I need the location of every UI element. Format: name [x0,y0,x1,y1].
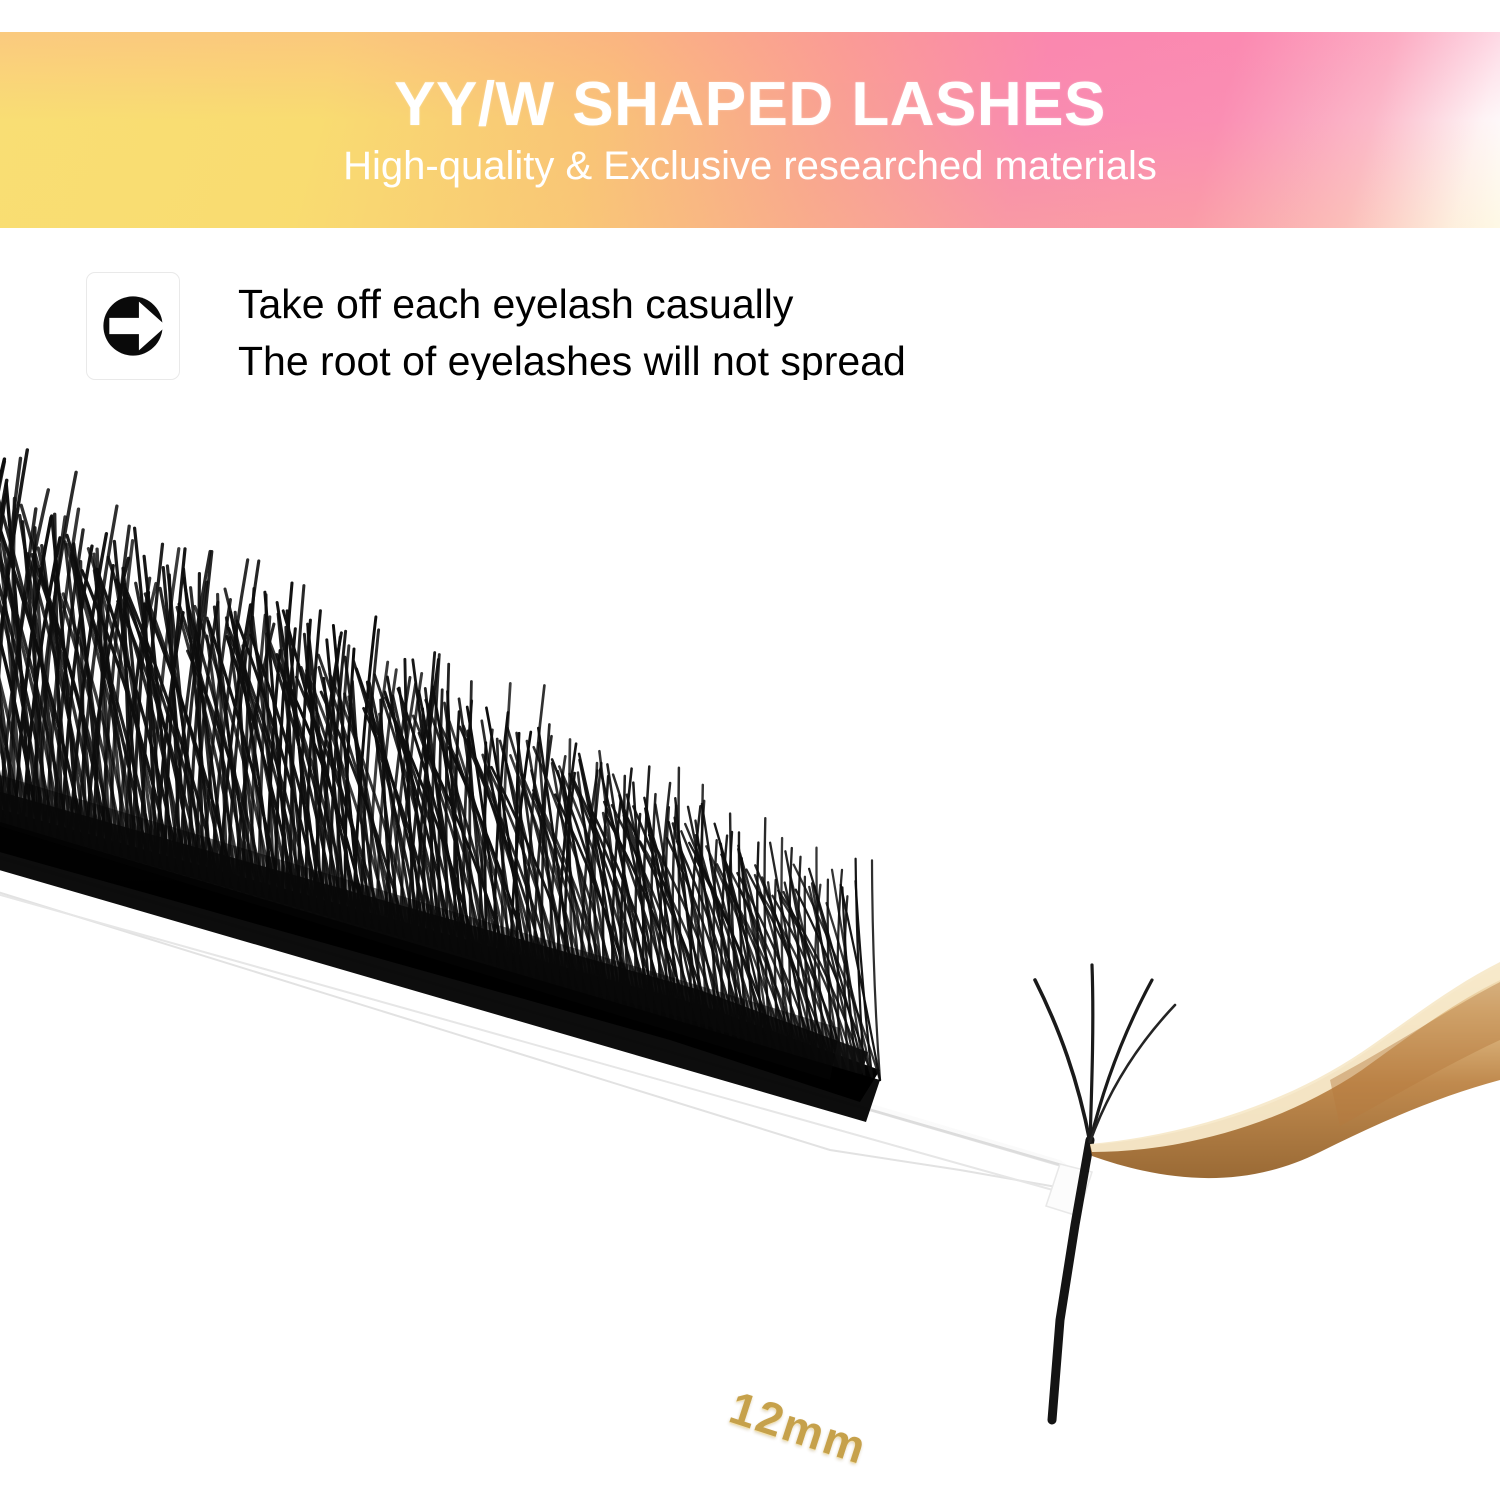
page-subtitle: High-quality & Exclusive researched mate… [343,144,1157,188]
product-photo: 12mm [0,380,1500,1500]
instruction-text-block: Take off each eyelash casually The root … [238,272,906,389]
gold-tweezer [1090,962,1500,1178]
instruction-row: Take off each eyelash casually The root … [86,272,906,389]
page-title: YY/W SHAPED LASHES [394,72,1106,137]
product-photo-canvas [0,380,1500,1500]
promo-banner: YY/W SHAPED LASHES High-quality & Exclus… [0,32,1500,228]
banner-content: YY/W SHAPED LASHES High-quality & Exclus… [0,32,1500,228]
instruction-line-1: Take off each eyelash casually [238,276,906,333]
arrow-right-circle-icon [86,272,180,380]
